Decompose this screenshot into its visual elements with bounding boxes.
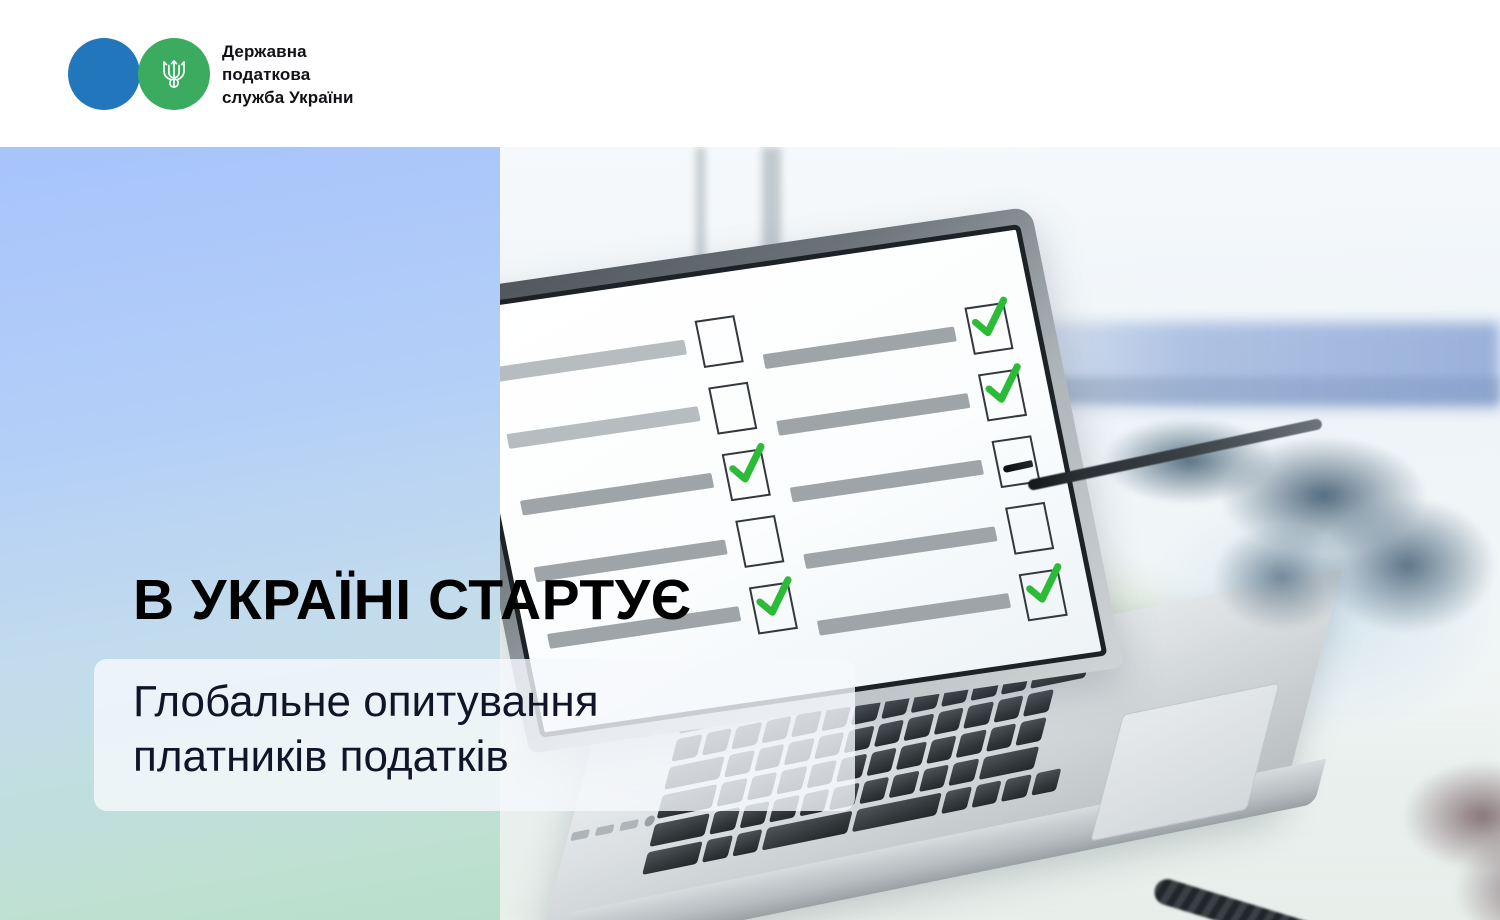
checkmark-icon <box>956 287 1025 352</box>
checkbox-unchecked[interactable] <box>708 382 757 435</box>
checkbox-unchecked[interactable] <box>1005 502 1054 555</box>
blue-circle-icon <box>68 38 140 110</box>
checklist-left-column <box>500 305 806 703</box>
hand-with-pen-icon <box>1080 397 1500 687</box>
page-title: В УКРАЇНІ СТАРТУЄ <box>133 567 692 633</box>
checkmark-icon <box>713 433 782 498</box>
checkbox-checked[interactable] <box>722 448 771 501</box>
text-bar <box>803 526 997 569</box>
audio-jack-icon <box>643 815 656 828</box>
laptop-screen <box>500 230 1102 733</box>
checkbox-checked[interactable] <box>749 582 798 635</box>
hero-banner: В УКРАЇНІ СТАРТУЄ Глобальне опитування п… <box>0 147 1500 920</box>
checkbox-checked[interactable] <box>978 369 1027 422</box>
checkmark-icon <box>740 566 809 631</box>
text-bar <box>817 593 1011 636</box>
logo-marks <box>68 38 210 110</box>
checkbox-checked[interactable] <box>1019 569 1068 622</box>
checkbox-checked[interactable] <box>964 302 1013 355</box>
poster-canvas: Державна податкова служба України <box>0 0 1500 920</box>
page-subtitle: Глобальне опитування платників податків <box>133 674 833 784</box>
text-bar <box>506 406 700 449</box>
checkmark-icon <box>969 353 1038 418</box>
port-icon <box>619 819 639 831</box>
checkbox-unchecked[interactable] <box>695 315 744 368</box>
text-bar <box>763 326 957 369</box>
checkmark-icon <box>1010 553 1079 618</box>
survey-checklist <box>500 230 1102 733</box>
checkbox-unchecked[interactable] <box>735 515 784 568</box>
port-icon <box>570 829 590 841</box>
organization-logo[interactable]: Державна податкова служба України <box>68 38 354 110</box>
green-circle-icon <box>138 38 210 110</box>
text-bar <box>776 393 970 436</box>
text-bar <box>520 472 714 515</box>
port-icon <box>595 824 615 836</box>
site-header: Державна податкова служба України <box>0 0 1500 147</box>
text-bar <box>500 339 687 382</box>
ukraine-trident-icon <box>159 56 189 92</box>
organization-name: Державна податкова служба України <box>222 40 354 109</box>
second-hand-icon <box>1370 747 1500 920</box>
text-bar <box>790 459 984 502</box>
